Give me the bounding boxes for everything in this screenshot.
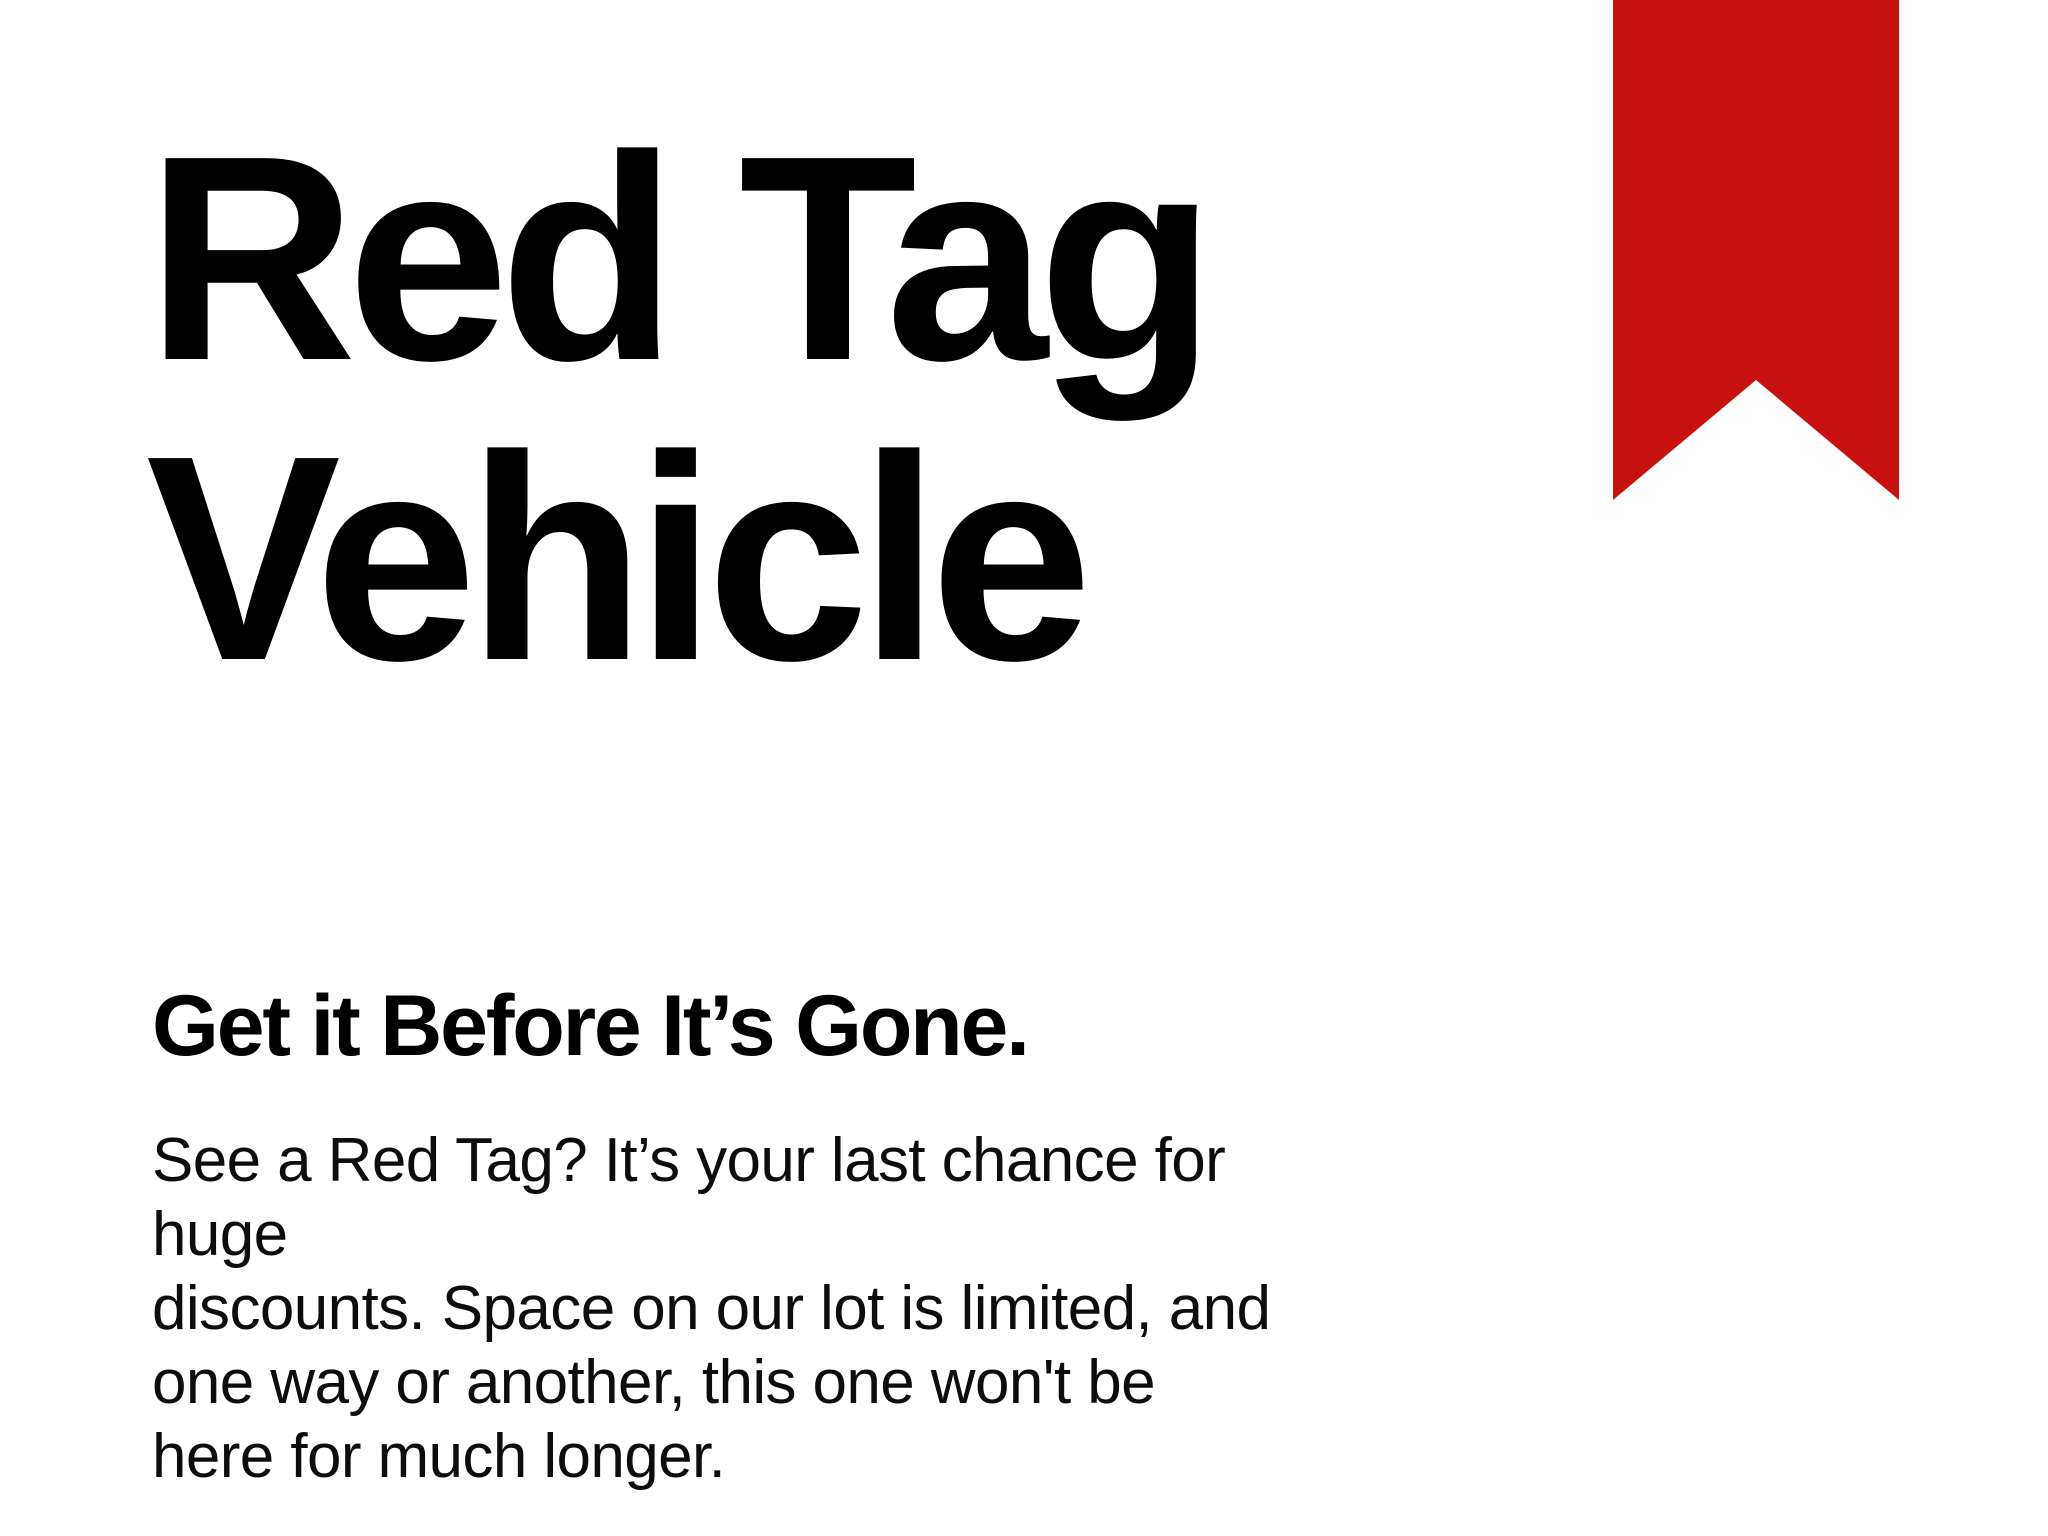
page-title: Red Tag Vehicle [146, 108, 1446, 708]
ribbon-shape [1613, 0, 1899, 500]
promo-text-block: Get it Before It’s Gone. See a Red Tag? … [152, 980, 1352, 1494]
ribbon-icon [1613, 0, 1899, 500]
red-tag-promo-card: Red Tag Vehicle Get it Before It’s Gone.… [0, 0, 2048, 1536]
red-tag-ribbon-mark [1613, 0, 1899, 500]
promo-body-copy: See a Red Tag? It’s your last chance for… [152, 1124, 1352, 1494]
promo-subheadline: Get it Before It’s Gone. [152, 980, 1352, 1072]
